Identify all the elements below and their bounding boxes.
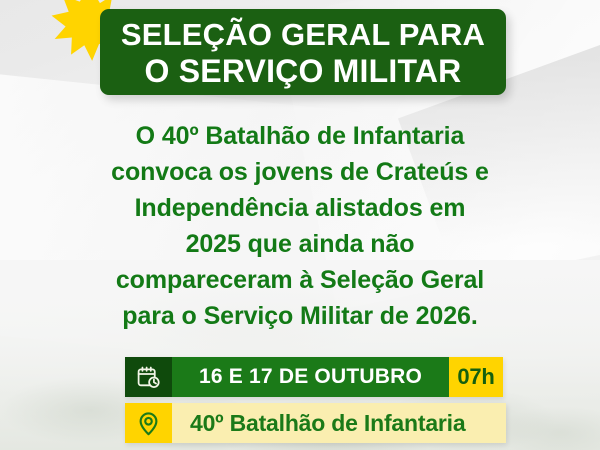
event-time-label: 07h <box>457 364 494 390</box>
event-date-label-area: 16 E 17 DE OUTUBRO <box>172 357 449 397</box>
poster-title-box: SELEÇÃO GERAL PARA O SERVIÇO MILITAR <box>100 9 506 95</box>
poster-body-copy: O 40º Batalhão de Infantaria convoca os … <box>30 118 570 334</box>
poster-body-line: 2025 que ainda não <box>30 226 570 262</box>
event-location-label-area: 40º Batalhão de Infantaria <box>172 403 506 443</box>
poster-title-line-1: SELEÇÃO GERAL PARA <box>121 17 485 53</box>
poster-title-line-2: O SERVIÇO MILITAR <box>145 53 462 89</box>
poster-body-line: para o Serviço Militar de 2026. <box>30 298 570 334</box>
event-date-bar: 16 E 17 DE OUTUBRO 07h <box>125 357 503 397</box>
event-date-label: 16 E 17 DE OUTUBRO <box>199 365 422 389</box>
map-pin-icon <box>125 403 172 443</box>
poster-body-line: O 40º Batalhão de Infantaria <box>30 118 570 154</box>
event-time-badge: 07h <box>449 357 503 397</box>
event-location-bar: 40º Batalhão de Infantaria <box>125 403 506 443</box>
calendar-clock-icon <box>125 357 172 397</box>
poster-body-line: Independência alistados em <box>30 190 570 226</box>
poster-body-line: convoca os jovens de Crateús e <box>30 154 570 190</box>
poster-body-line: compareceram à Seleção Geral <box>30 262 570 298</box>
event-location-label: 40º Batalhão de Infantaria <box>190 410 465 437</box>
poster-canvas: SELEÇÃO GERAL PARA O SERVIÇO MILITAR O 4… <box>0 0 600 450</box>
